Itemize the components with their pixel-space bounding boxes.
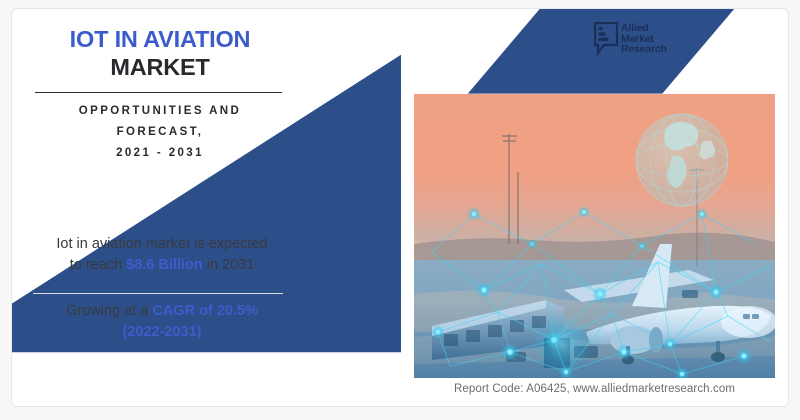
logo-line-1: Allied — [621, 23, 667, 34]
report-card: Allied Market Research IOT IN AVIATION M… — [11, 8, 789, 407]
market-size-value: $8.6 Billion — [126, 257, 203, 273]
cagr-period: (2022-2031) — [123, 324, 202, 340]
market-size-lead2: to reach — [70, 257, 126, 273]
cagr-statement: Growing at a CAGR of 20.5% (2022-2031) — [22, 301, 302, 343]
title-line-secondary: MARKET — [26, 53, 294, 81]
market-size-lead: Iot in aviation market is expected — [56, 236, 267, 252]
hero-image — [414, 94, 775, 378]
forecast-line-3: 2021 - 2031 — [26, 143, 294, 164]
logo-line-3: Research — [621, 44, 667, 55]
market-size-statement: Iot in aviation market is expected to re… — [22, 234, 302, 276]
stats-divider — [33, 293, 283, 294]
allied-market-research-icon — [594, 22, 620, 56]
forecast-line-2: FORECAST, — [26, 122, 294, 143]
title-line-primary: IOT IN AVIATION — [26, 25, 294, 53]
page-title: IOT IN AVIATION MARKET — [26, 25, 294, 81]
forecast-line-1: OPPORTUNITIES AND — [26, 101, 294, 122]
infographic-banner: Allied Market Research IOT IN AVIATION M… — [0, 0, 800, 420]
cagr-value: CAGR of 20.5% — [152, 303, 258, 319]
cagr-lead: Growing at a — [66, 303, 152, 319]
market-size-tail: in 2031 — [203, 257, 255, 273]
forecast-subtitle: OPPORTUNITIES AND FORECAST, 2021 - 2031 — [26, 101, 294, 164]
footer-report-code: Report Code: A06425, www.alliedmarketres… — [414, 383, 775, 395]
title-divider — [35, 92, 282, 93]
brand-logo[interactable]: Allied Market Research — [594, 22, 698, 70]
